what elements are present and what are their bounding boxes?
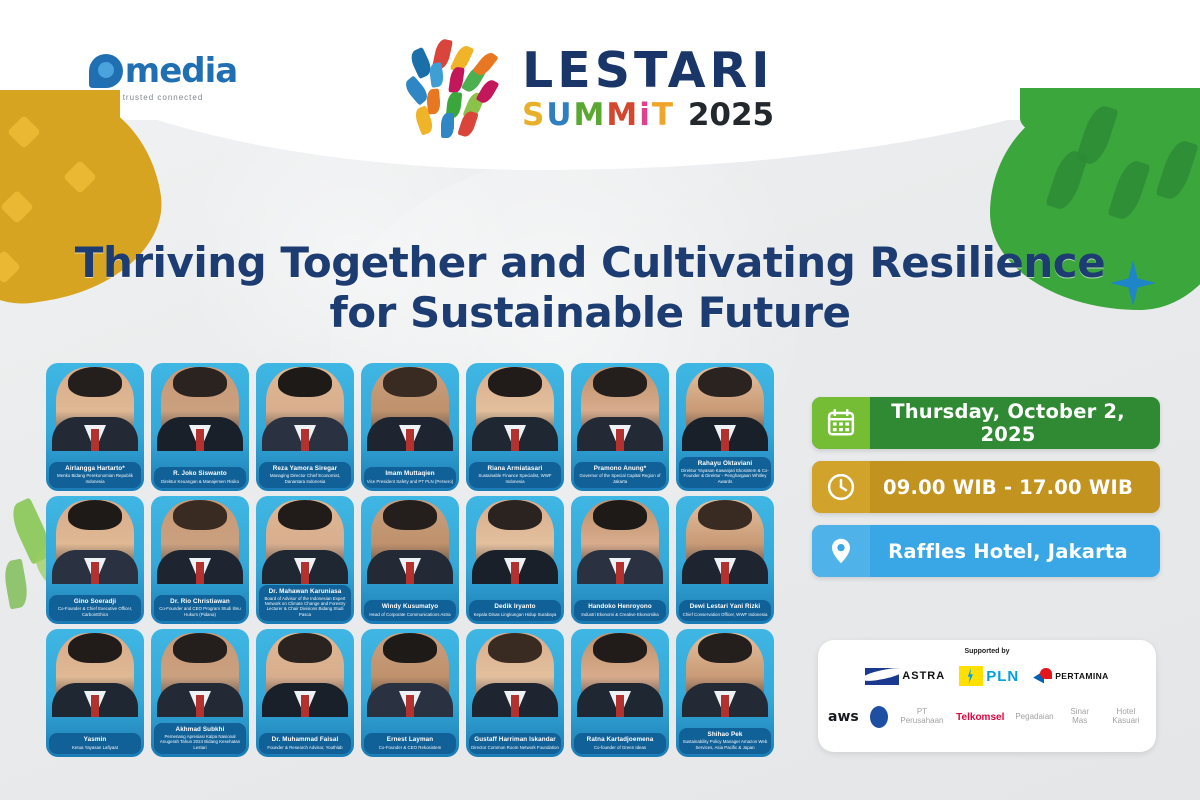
sponsors-panel: Supported by ASTRA PLN PERTAMINA aws PT … (818, 640, 1156, 752)
speaker-name: Handoko Henroyono (576, 603, 664, 610)
speaker-name: Dedik Iryanto (471, 603, 559, 610)
speaker-photo (581, 500, 659, 584)
speaker-name: Gustaff Harriman Iskandar (471, 736, 559, 743)
speaker-role: Director Common Room Network Foundation (471, 745, 559, 750)
speaker-name: Shihao Pek (681, 731, 769, 738)
event-time-card: 09.00 WIB - 17.00 WIB (812, 461, 1160, 513)
title-line-1: Thriving Together and Cultivating Resili… (60, 238, 1120, 288)
speakers-row: Gino SoeradjiCo-Founder & Chief Executiv… (46, 496, 788, 624)
speaker-card[interactable]: Dewi Lestari Yani RizkiChief Conservatio… (676, 496, 774, 624)
speaker-role: Pemenang Apresiasi Kalpa Nasional Anuger… (156, 734, 244, 750)
sponsor-logo-pegadaian: Pegadaian (1015, 713, 1053, 722)
speaker-photo (581, 633, 659, 717)
pln-lightning-icon (959, 666, 983, 686)
speaker-name: Airlangga Hartarto* (51, 465, 139, 472)
pertamina-arrow-icon (1033, 668, 1052, 685)
event-date-text: Thursday, October 2, 2025 (870, 400, 1160, 446)
speaker-photo (56, 500, 134, 584)
speaker-role: Sustainable Finance Specialist, WWF Indo… (471, 473, 559, 484)
speaker-photo (686, 633, 764, 717)
speaker-card[interactable]: Airlangga Hartarto*Menko Bidang Perekono… (46, 363, 144, 491)
speaker-label: Dedik IryantoKepala Dinas Lingkungan Hid… (469, 600, 561, 621)
sponsors-title: Supported by (828, 648, 1146, 655)
speaker-role: Head of Corporate Communications Astra (366, 612, 454, 617)
speaker-card[interactable]: Gino SoeradjiCo-Founder & Chief Executiv… (46, 496, 144, 624)
lestari-petal-mark (405, 37, 510, 142)
sponsor-label: ASTRA (902, 670, 945, 682)
speaker-photo (371, 367, 449, 451)
speaker-name: Dr. Rio Christiawan (156, 598, 244, 605)
astra-icon (865, 668, 899, 685)
sponsor-logo-unilever (870, 706, 888, 728)
speaker-role: Sustainability Policy Manager Amazon Web… (681, 739, 769, 750)
event-details: Thursday, October 2, 2025 09.00 WIB - 17… (812, 397, 1160, 589)
speaker-role: Managing Director Chief Economist, Danan… (261, 473, 349, 484)
speaker-role: Direktur Yayasan Kawanjari Ekosistem & C… (681, 468, 769, 484)
speaker-name: Rahayu Oktaviani (681, 460, 769, 467)
speaker-role: Chief Conservation Officer, WWF Indonesi… (681, 612, 769, 617)
lestari-wordmark: LESTARI (522, 46, 774, 95)
speaker-label: R. Joko SiswantoDirektur Keuangan & Mana… (154, 467, 246, 488)
speaker-role: Co-founder of Green Ideas (576, 745, 664, 750)
speaker-label: Dr. Mahawan KaruniasaBoard of Advisor of… (259, 585, 351, 621)
speaker-label: Dewi Lestari Yani RizkiChief Conservatio… (679, 600, 771, 621)
speaker-label: Pramono Anung*Governor of the Special Ca… (574, 462, 666, 488)
speaker-name: Dr. Muhammad Faisal (261, 736, 349, 743)
speakers-grid: Airlangga Hartarto*Menko Bidang Perekono… (46, 363, 788, 763)
speaker-card[interactable]: Dr. Rio ChristiawanCo-Founder and CEO Pr… (151, 496, 249, 624)
speaker-label: Dr. Rio ChristiawanCo-Founder and CEO Pr… (154, 595, 246, 621)
speaker-name: Pramono Anung* (576, 465, 664, 472)
speaker-label: Reza Yamora SiregarManaging Director Chi… (259, 462, 351, 488)
speaker-name: Imam Muttaqien (366, 470, 454, 477)
summit-wordmark: SUMMiT 2025 (522, 98, 774, 134)
speaker-photo (56, 367, 134, 451)
speaker-label: Gustaff Harriman IskandarDirector Common… (469, 733, 561, 754)
speaker-photo (686, 367, 764, 451)
media-logo: media trusted connected (78, 45, 248, 107)
speaker-label: Shihao PekSustainability Policy Manager … (679, 728, 771, 754)
speaker-label: Ernest LaymanCo-Founder & CEO Rekosistem (364, 733, 456, 754)
speaker-role: Direktur Keuangan & Manajemen Risiko (156, 479, 244, 484)
speaker-photo (686, 500, 764, 584)
speaker-name: Dewi Lestari Yani Rizki (681, 603, 769, 610)
event-time-text: 09.00 WIB - 17.00 WIB (870, 476, 1160, 499)
speaker-photo (266, 500, 344, 584)
speaker-photo (266, 633, 344, 717)
speaker-label: Imam MuttaqienVice President Safety and … (364, 467, 456, 488)
speaker-role: Ketua Yayasan Lafiyaat (51, 745, 139, 750)
speaker-label: Gino SoeradjiCo-Founder & Chief Executiv… (49, 595, 141, 621)
speaker-card[interactable]: Imam MuttaqienVice President Safety and … (361, 363, 459, 491)
speaker-photo (371, 500, 449, 584)
sponsor-logo-pertamina: PERTAMINA (1033, 668, 1109, 685)
speaker-name: Riana Armiatasari (471, 465, 559, 472)
speaker-photo (371, 633, 449, 717)
speaker-role: Founder & Research Advisor, Youthlab (261, 745, 349, 750)
sponsor-logo-pt-perusahaan: PT Perusahaan (899, 708, 945, 726)
sponsor-logo-aws: aws (828, 709, 859, 725)
sponsor-logo-hotel-kasuari: Hotel Kasuari (1106, 708, 1146, 726)
event-location-text: Raffles Hotel, Jakarta (870, 540, 1160, 563)
sponsor-logo-telkomsel: Telkomsel (956, 712, 1004, 723)
sponsor-label: PLN (986, 668, 1019, 685)
speaker-card[interactable]: Ernest LaymanCo-Founder & CEO Rekosistem (361, 629, 459, 757)
speaker-label: Windy KusumatyoHead of Corporate Communi… (364, 600, 456, 621)
event-year: 2025 (688, 98, 774, 134)
speaker-photo (476, 367, 554, 451)
speaker-role: Menko Bidang Perekonomian Republik Indon… (51, 473, 139, 484)
clock-icon (812, 461, 870, 513)
speaker-card[interactable]: Ratna KartadjoemenaCo-founder of Green I… (571, 629, 669, 757)
sponsor-logo-astra: ASTRA (865, 668, 945, 685)
speaker-label: Riana ArmiatasariSustainable Finance Spe… (469, 462, 561, 488)
speaker-card[interactable]: Dedik IryantoKepala Dinas Lingkungan Hid… (466, 496, 564, 624)
speakers-row: Airlangga Hartarto*Menko Bidang Perekono… (46, 363, 788, 491)
speaker-card[interactable]: YasminKetua Yayasan Lafiyaat (46, 629, 144, 757)
speaker-name: R. Joko Siswanto (156, 470, 244, 477)
speaker-photo (266, 367, 344, 451)
speaker-card[interactable]: Dr. Mahawan KaruniasaBoard of Advisor of… (256, 496, 354, 624)
speaker-name: Gino Soeradji (51, 598, 139, 605)
event-location-card: Raffles Hotel, Jakarta (812, 525, 1160, 577)
speaker-role: Co-Founder & Chief Executive Officer, Ca… (51, 606, 139, 617)
speaker-role: Governor of the Special Capital Region o… (576, 473, 664, 484)
speaker-name: Dr. Mahawan Karuniasa (261, 588, 349, 595)
calendar-icon (812, 397, 870, 449)
speaker-role: Industri Ekonomi & Creative Ekonomika (576, 612, 664, 617)
speaker-photo (476, 500, 554, 584)
location-pin-icon (812, 525, 870, 577)
speaker-label: Rahayu OktavianiDirektur Yayasan Kawanja… (679, 457, 771, 488)
speakers-row: YasminKetua Yayasan LafiyaatAkhmad Subkh… (46, 629, 788, 757)
speaker-card[interactable]: Windy KusumatyoHead of Corporate Communi… (361, 496, 459, 624)
speaker-card[interactable]: Pramono Anung*Governor of the Special Ca… (571, 363, 669, 491)
event-date-card: Thursday, October 2, 2025 (812, 397, 1160, 449)
speaker-photo (56, 633, 134, 717)
speaker-name: Ratna Kartadjoemena (576, 736, 664, 743)
speaker-card[interactable]: Akhmad SubkhiPemenang Apresiasi Kalpa Na… (151, 629, 249, 757)
media-logo-mark (89, 54, 123, 88)
speaker-role: Kepala Dinas Lingkungan Hidup Surabaya (471, 612, 559, 617)
lestari-summit-logo: LESTARI SUMMiT 2025 (405, 32, 825, 147)
sponsor-logo-sinar-mas: Sinar Mas (1065, 708, 1095, 726)
sponsor-label: PERTAMINA (1055, 671, 1109, 681)
speaker-card[interactable]: Riana ArmiatasariSustainable Finance Spe… (466, 363, 564, 491)
speaker-label: Handoko HenroyonoIndustri Ekonomi & Crea… (574, 600, 666, 621)
speaker-card[interactable]: Dr. Muhammad FaisalFounder & Research Ad… (256, 629, 354, 757)
speaker-photo (581, 367, 659, 451)
title-line-2: for Sustainable Future (60, 288, 1120, 338)
speaker-name: Windy Kusumatyo (366, 603, 454, 610)
speaker-photo (161, 500, 239, 584)
speaker-label: Akhmad SubkhiPemenang Apresiasi Kalpa Na… (154, 723, 246, 754)
sponsors-tier-primary: ASTRA PLN PERTAMINA (828, 659, 1146, 693)
speaker-name: Reza Yamora Siregar (261, 465, 349, 472)
speaker-label: Ratna KartadjoemenaCo-founder of Green I… (574, 733, 666, 754)
speaker-label: Airlangga Hartarto*Menko Bidang Perekono… (49, 462, 141, 488)
speaker-photo (476, 633, 554, 717)
speaker-photo (161, 633, 239, 717)
event-poster: media trusted connected LESTARI SUMMiT (0, 0, 1200, 800)
speaker-label: YasminKetua Yayasan Lafiyaat (49, 733, 141, 754)
sponsors-tier-secondary: aws PT Perusahaan Telkomsel Pegadaian Si… (828, 697, 1146, 737)
speaker-card[interactable]: R. Joko SiswantoDirektur Keuangan & Mana… (151, 363, 249, 491)
speaker-card[interactable]: Rahayu OktavianiDirektur Yayasan Kawanja… (676, 363, 774, 491)
media-logo-text: media (125, 51, 237, 91)
unilever-icon (870, 706, 888, 728)
page-title: Thriving Together and Cultivating Resili… (60, 238, 1120, 337)
sponsor-logo-pln: PLN (959, 666, 1019, 686)
media-logo-tagline: trusted connected (123, 93, 204, 102)
speaker-name: Yasmin (51, 736, 139, 743)
speaker-card[interactable]: Shihao PekSustainability Policy Manager … (676, 629, 774, 757)
speaker-card[interactable]: Gustaff Harriman IskandarDirector Common… (466, 629, 564, 757)
speaker-label: Dr. Muhammad FaisalFounder & Research Ad… (259, 733, 351, 754)
speaker-photo (161, 367, 239, 451)
speaker-name: Akhmad Subkhi (156, 726, 244, 733)
speaker-role: Co-Founder & CEO Rekosistem (366, 745, 454, 750)
speaker-role: Co-Founder and CEO Program Studi Ilmu Hu… (156, 606, 244, 617)
speaker-role: Board of Advisor of the Indonesian Exper… (261, 596, 349, 617)
speaker-name: Ernest Layman (366, 736, 454, 743)
speaker-card[interactable]: Handoko HenroyonoIndustri Ekonomi & Crea… (571, 496, 669, 624)
leaf-icon (2, 559, 30, 610)
speaker-role: Vice President Safety and PT PLN (Perser… (366, 479, 454, 484)
speaker-card[interactable]: Reza Yamora SiregarManaging Director Chi… (256, 363, 354, 491)
